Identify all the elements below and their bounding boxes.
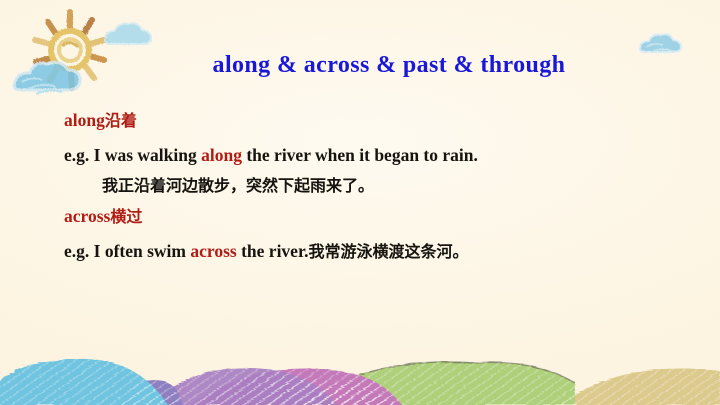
- heading-gloss: 沿着: [105, 111, 137, 130]
- example-prefix: e.g. I often swim: [64, 241, 190, 261]
- example-suffix: the river when it began to rain.: [242, 145, 478, 165]
- crayon-hills-decoration: [0, 327, 720, 405]
- heading-gloss: 横过: [110, 207, 142, 226]
- entry-example-along: e.g. I was walking along the river when …: [64, 147, 664, 165]
- example-tail-chinese: 我常游泳横渡这条河。: [308, 242, 468, 261]
- example-highlight: along: [201, 145, 242, 165]
- entry-heading-along: along沿着: [64, 112, 664, 130]
- page-title-row: along & across & past & through: [0, 52, 720, 79]
- cloud-icon: [100, 14, 160, 48]
- entry-translation-along: 我正沿着河边散步，突然下起雨来了。: [64, 178, 664, 194]
- entry-heading-across: across横过: [64, 208, 664, 226]
- example-prefix: e.g. I was walking: [64, 145, 201, 165]
- heading-word: along: [64, 110, 105, 130]
- entry-example-across: e.g. I often swim across the river.我常游泳横…: [64, 243, 664, 261]
- page-title: along & across & past & through: [213, 52, 566, 79]
- lesson-content: along沿着 e.g. I was walking along the riv…: [64, 112, 664, 274]
- heading-word: across: [64, 206, 110, 226]
- slide-canvas: along & across & past & through along沿着 …: [0, 0, 720, 405]
- example-suffix: the river.: [237, 241, 309, 261]
- example-highlight: across: [190, 241, 236, 261]
